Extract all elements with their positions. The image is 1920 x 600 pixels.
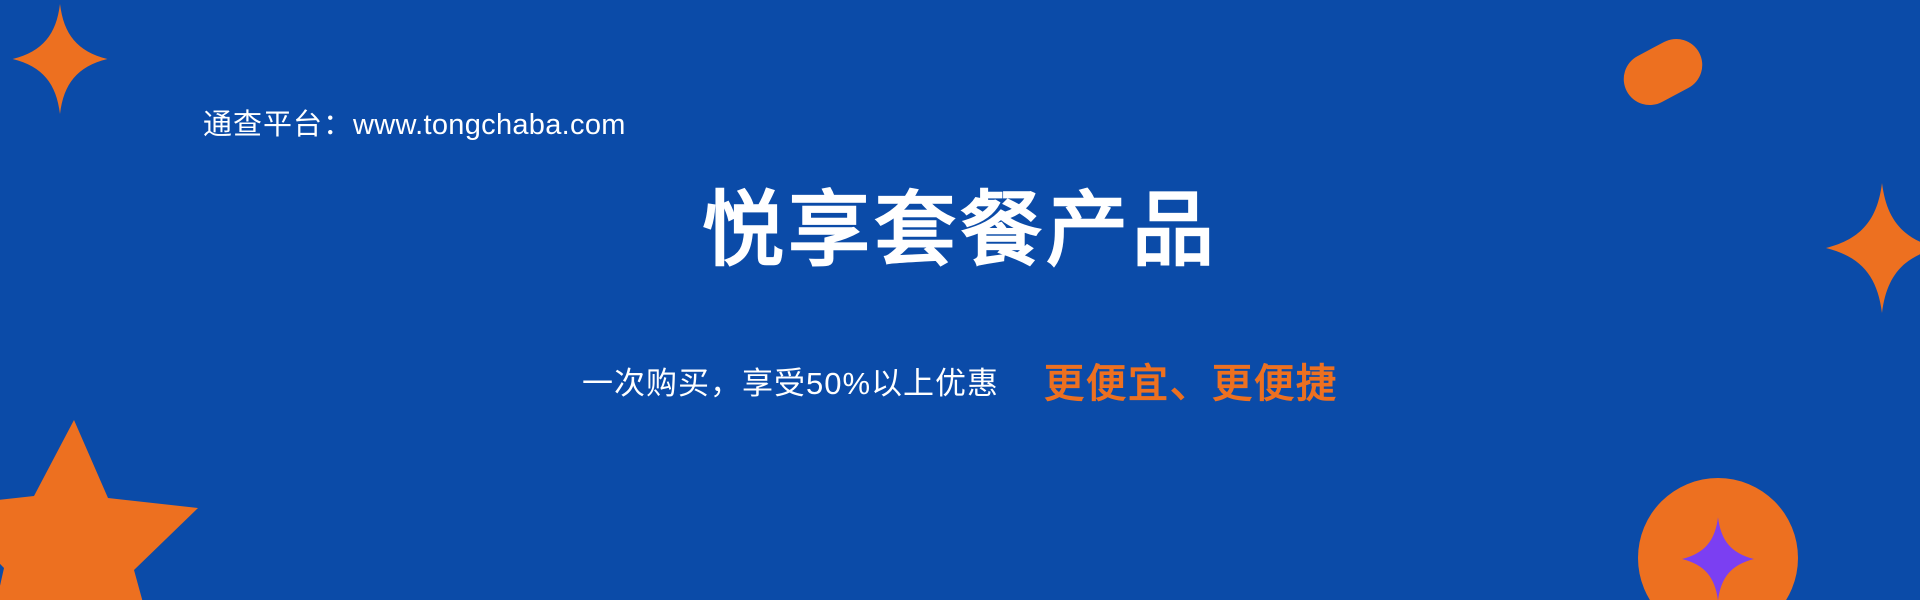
banner-content: 通查平台：www.tongchaba.com 悦享套餐产品 一次购买，享受50%…: [0, 0, 1920, 600]
platform-url-line: 通查平台：www.tongchaba.com: [203, 108, 626, 143]
banner-title: 悦享套餐产品: [0, 188, 1920, 274]
subtitle-plain-text: 一次购买，享受50%以上优惠: [582, 366, 999, 401]
banner-subtitle-row: 一次购买，享受50%以上优惠 更便宜、更便捷: [0, 362, 1920, 406]
subtitle-accent-text: 更便宜、更便捷: [1044, 362, 1338, 406]
platform-label: 通查平台：: [203, 109, 353, 141]
platform-url[interactable]: www.tongchaba.com: [353, 109, 626, 141]
promo-banner: 通查平台：www.tongchaba.com 悦享套餐产品 一次购买，享受50%…: [0, 0, 1920, 600]
